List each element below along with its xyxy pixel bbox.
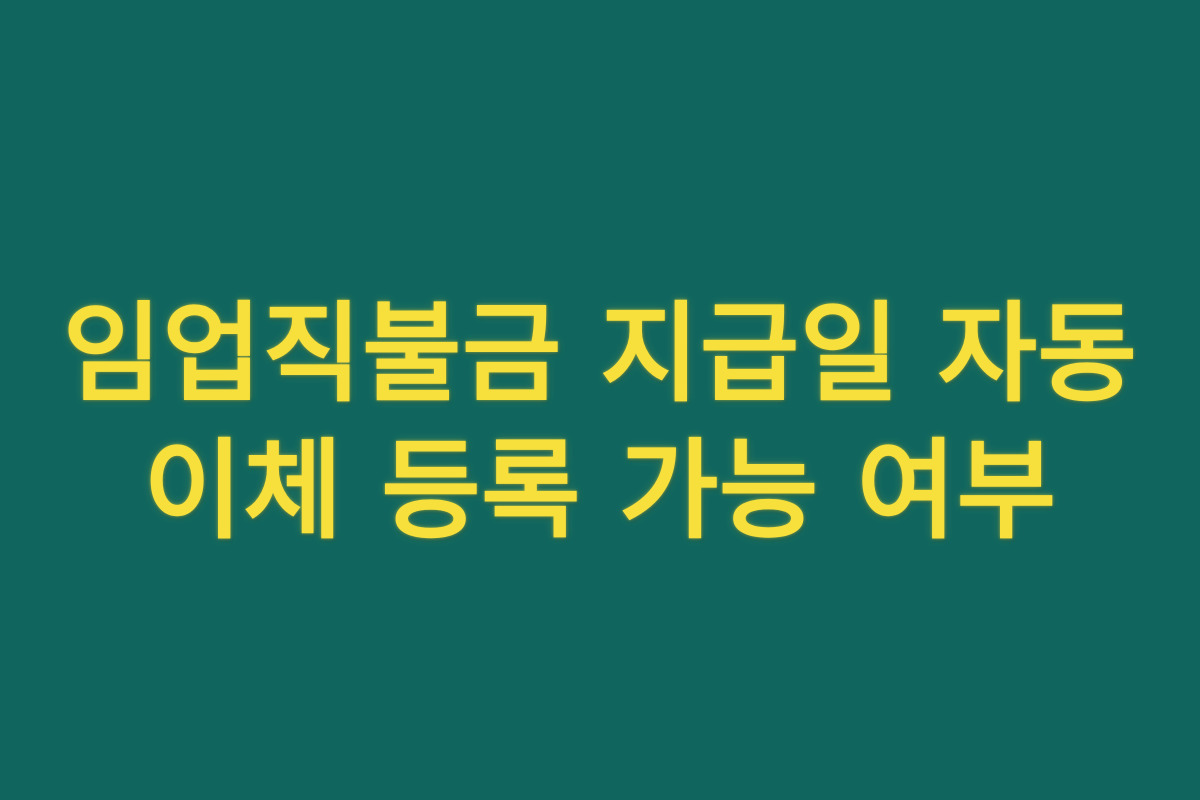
thumbnail-canvas: 임업직불금 지급일 자동 이체 등록 가능 여부: [0, 0, 1200, 800]
headline-block: 임업직불금 지급일 자동 이체 등록 가능 여부: [0, 286, 1200, 560]
headline-line-2: 이체 등록 가능 여부: [40, 423, 1160, 560]
headline-line-1: 임업직불금 지급일 자동: [40, 286, 1160, 423]
